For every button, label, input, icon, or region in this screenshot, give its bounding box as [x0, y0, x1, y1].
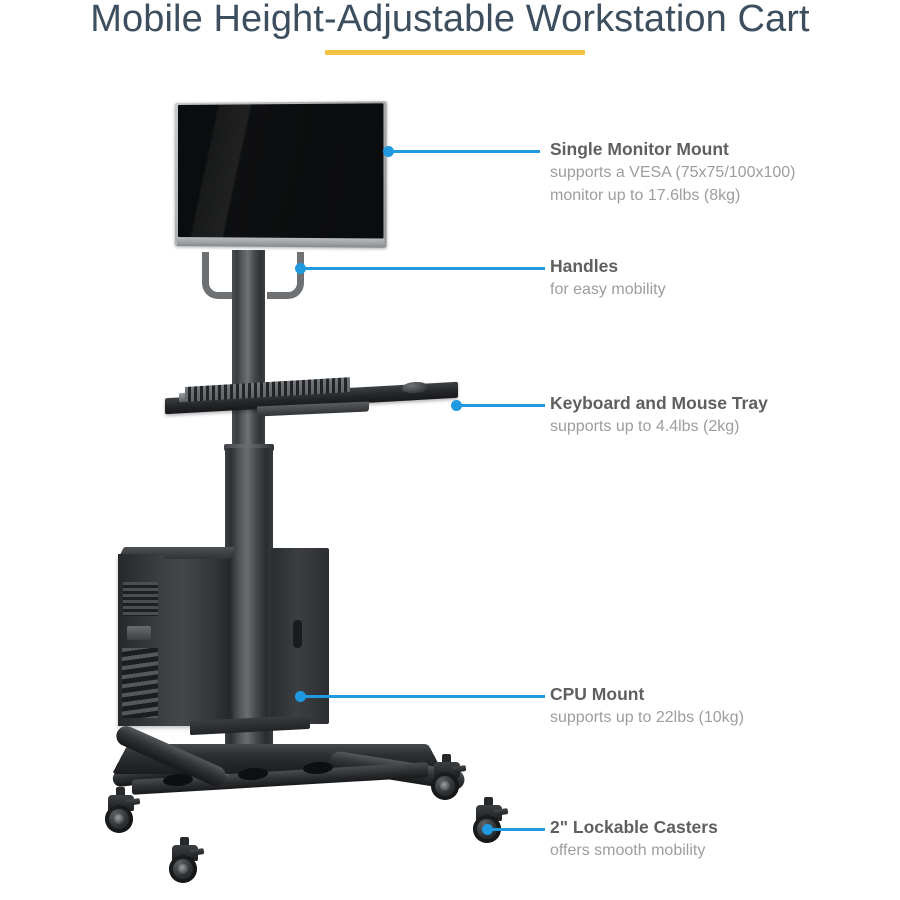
- cpu-front-badge: [127, 626, 151, 640]
- leader-line: [300, 695, 545, 698]
- monitor-display: [175, 103, 382, 246]
- caster-lock-lever: [190, 848, 205, 856]
- callout-subtitle-line-1: supports up to 22lbs (10kg): [550, 706, 880, 729]
- callout-title: Single Monitor Mount: [550, 137, 880, 161]
- monitor-bezel: [175, 101, 387, 248]
- monitor-screen: [178, 103, 383, 238]
- caster-lock-lever: [126, 798, 141, 806]
- callout-subtitle-line-1: for easy mobility: [550, 278, 880, 301]
- caster-hub: [440, 781, 450, 791]
- callout-title: Keyboard and Mouse Tray: [550, 391, 880, 415]
- callout-text-block: Handles for easy mobility: [550, 254, 880, 301]
- callout-title: 2" Lockable Casters: [550, 815, 880, 839]
- callout-text-block: CPU Mount supports up to 22lbs (10kg): [550, 682, 880, 729]
- caster-rear-left: [104, 795, 138, 835]
- screen-gloss-highlight: [178, 103, 342, 238]
- column-upper-section: [232, 250, 265, 455]
- cpu-tower: [118, 554, 230, 726]
- caster-rear-right: [430, 762, 464, 802]
- callout-title: Handles: [550, 254, 880, 278]
- monitor-bottom-bar: [177, 237, 384, 248]
- callout-text-block: 2" Lockable Casters offers smooth mobili…: [550, 815, 880, 862]
- leader-line: [388, 150, 540, 153]
- cpu-vent-lower: [122, 648, 158, 718]
- callout-subtitle-line-2: monitor up to 17.6lbs (8kg): [550, 184, 880, 207]
- cpu-vent-upper: [123, 582, 158, 616]
- caster-lock-lever: [452, 765, 467, 773]
- caster-hub: [178, 864, 188, 874]
- callout-title: CPU Mount: [550, 682, 880, 706]
- leader-line: [300, 267, 545, 270]
- caster-hub: [114, 814, 124, 824]
- callout-subtitle-line-1: supports a VESA (75x75/100x100): [550, 161, 880, 184]
- leader-line: [487, 828, 545, 831]
- leader-line: [456, 404, 545, 407]
- cpu-bracket-slot: [293, 620, 302, 648]
- callout-text-block: Keyboard and Mouse Tray supports up to 4…: [550, 391, 880, 438]
- caster-front-left: [168, 845, 202, 885]
- callout-subtitle-line-1: supports up to 4.4lbs (2kg): [550, 415, 880, 438]
- push-handle-right: [267, 252, 304, 299]
- callout-text-block: Single Monitor Mount supports a VESA (75…: [550, 137, 880, 207]
- product-illustration: [0, 0, 560, 900]
- keyboard-mouse-tray: [165, 380, 458, 414]
- caster-lock-lever: [494, 808, 509, 816]
- callout-subtitle-line-1: offers smooth mobility: [550, 839, 880, 862]
